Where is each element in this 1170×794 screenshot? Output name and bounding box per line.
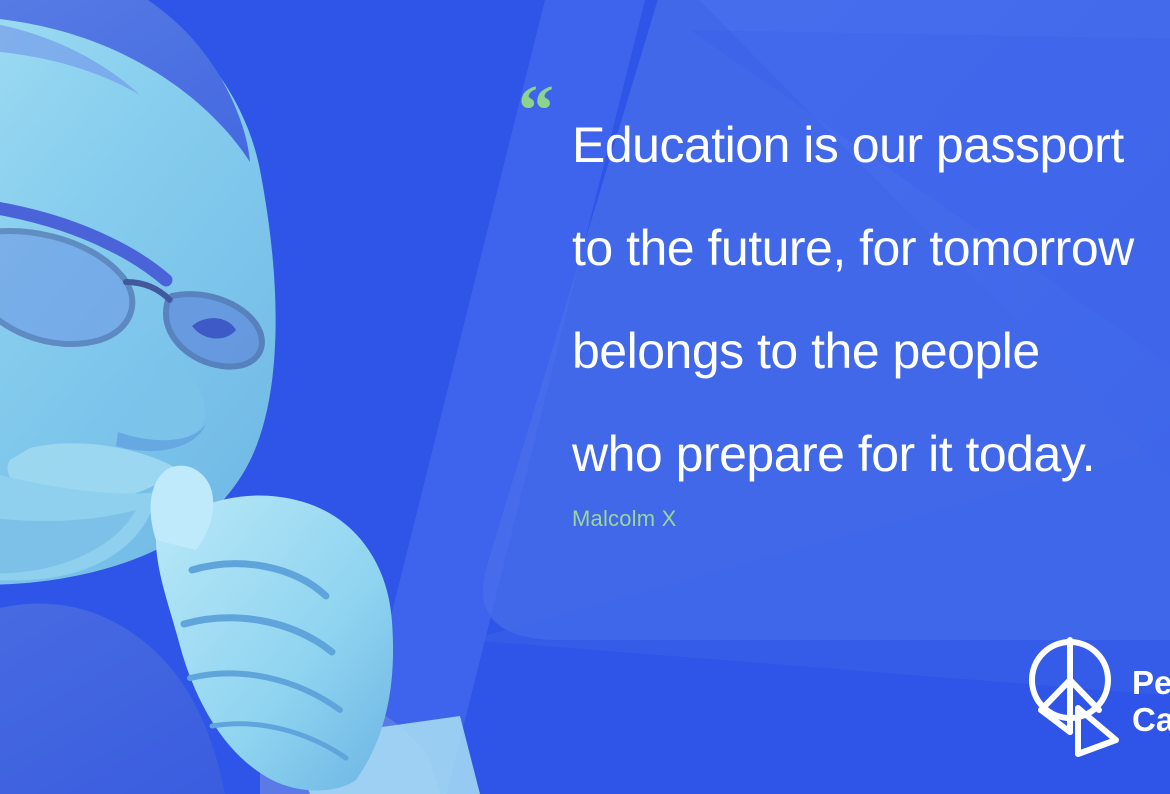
peace-sign-play-svg: [1026, 636, 1122, 762]
quote-line: to the future, for tomorrow: [572, 197, 1170, 300]
quote-line: who prepare for it today.: [572, 403, 1170, 506]
brand-logo-text: Pe Ca: [1132, 665, 1170, 739]
quote-line: belongs to the people: [572, 300, 1170, 403]
open-quote-icon: “: [518, 74, 552, 146]
brand-logo[interactable]: Pe Ca: [1026, 636, 1170, 767]
quote-attribution: Malcolm X: [572, 506, 677, 532]
peace-right-arm: [1070, 680, 1099, 710]
portrait-svg: [0, 0, 560, 794]
portrait-index-finger: [151, 466, 214, 550]
quote-lines: Education is our passport to the future,…: [572, 94, 1170, 506]
peace-sign-icon: [1026, 636, 1122, 767]
brand-logo-line-2: Ca: [1132, 702, 1170, 739]
quote-graphic: “ Education is our passport to the futur…: [0, 0, 1170, 794]
portrait-malcolm-x: [0, 0, 560, 794]
play-triangle-icon: [1078, 708, 1116, 754]
peace-left-arm: [1041, 680, 1070, 710]
brand-logo-line-1: Pe: [1132, 664, 1170, 701]
quote-line: Education is our passport: [572, 94, 1170, 197]
